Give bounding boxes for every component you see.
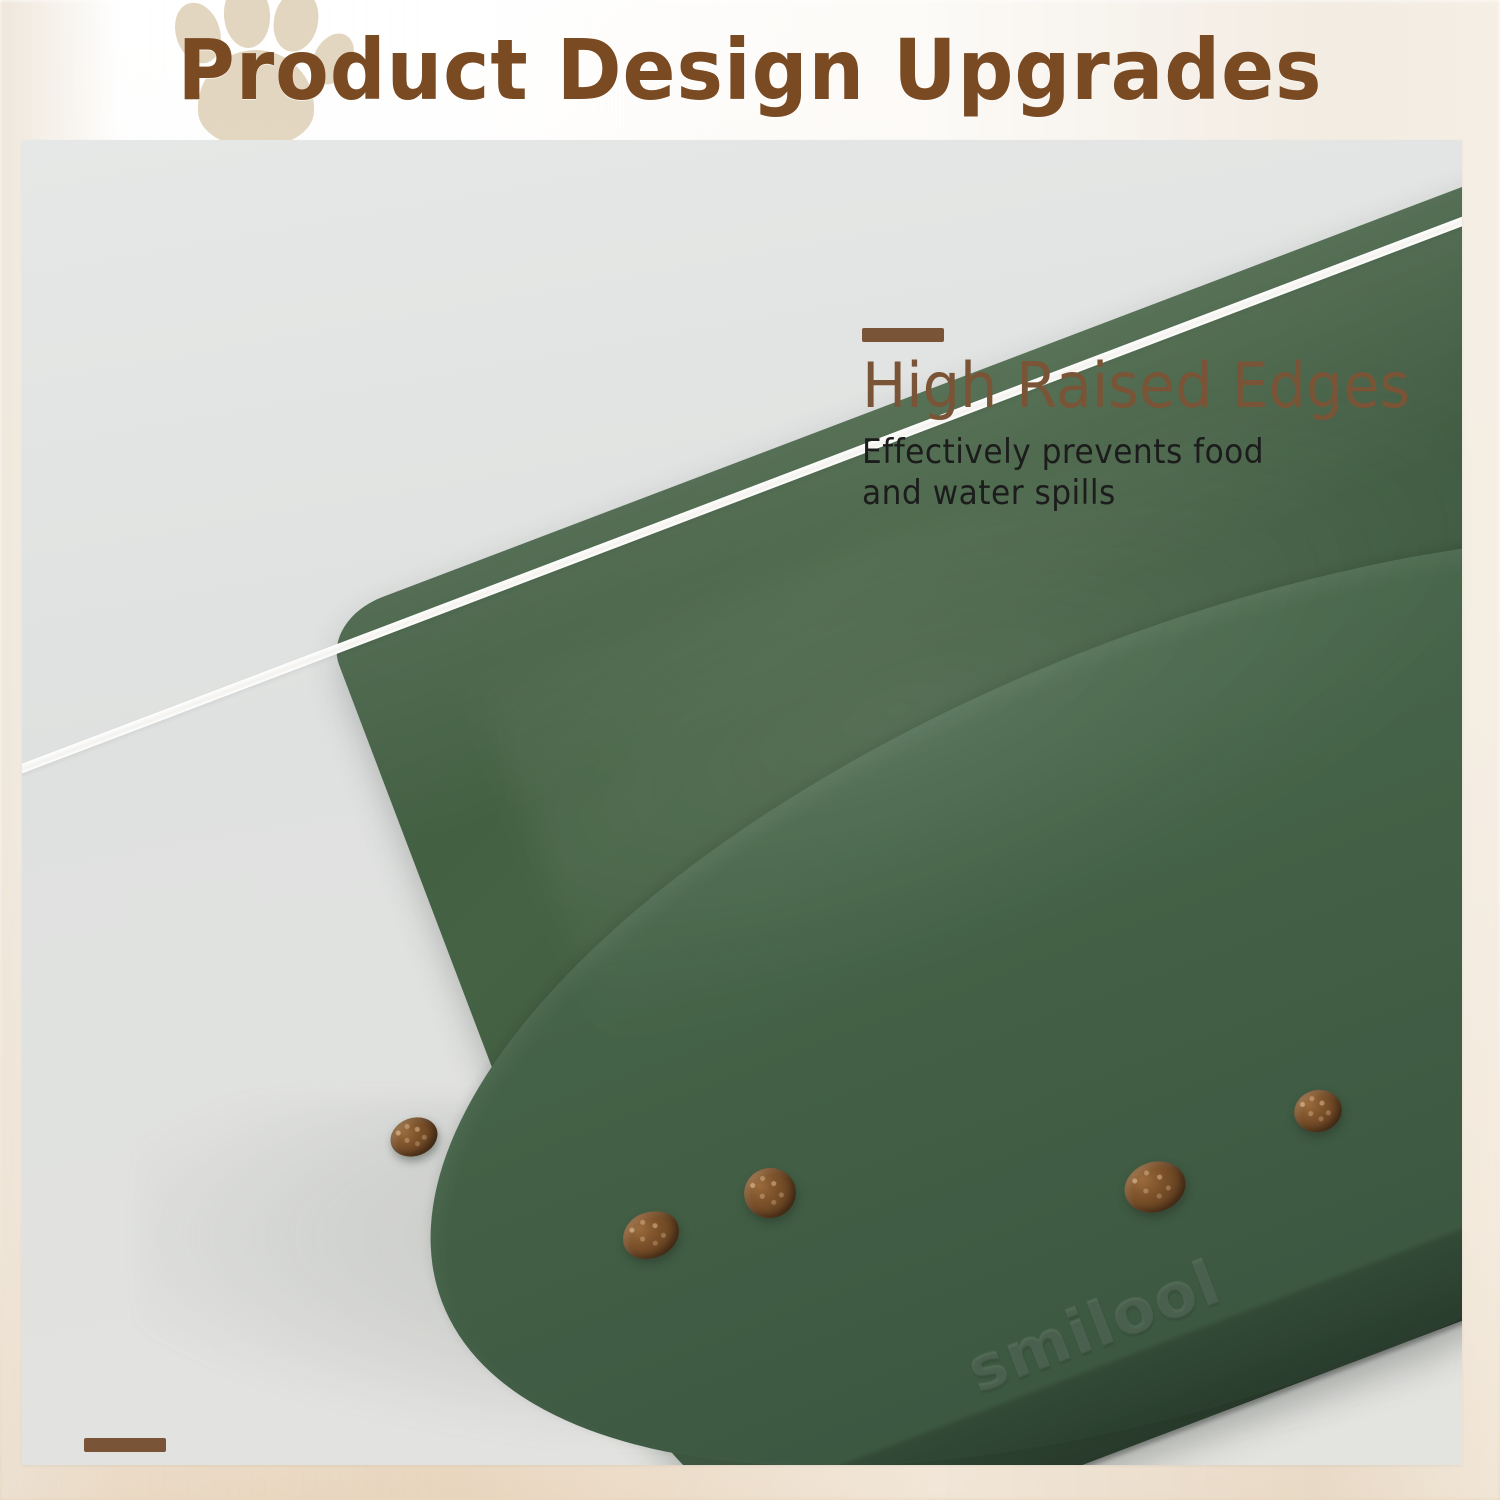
- feature-subtitle-line: and water spills: [862, 473, 1393, 513]
- feature-accent-dash: [84, 1438, 166, 1452]
- product-photo-panel: 0.8 inch smilool: [22, 140, 1462, 1465]
- feature-title: Keeping the floor clean: [84, 1464, 911, 1465]
- product-infographic: Product Design Upgrades: [0, 0, 1500, 1500]
- page-title: Product Design Upgrades: [53, 0, 1448, 140]
- feature-title: High Raised Edges: [862, 354, 1410, 418]
- feature-accent-dash: [862, 328, 944, 342]
- feature-high-raised-edges: High Raised Edges Effectively prevents f…: [862, 328, 1439, 513]
- feature-subtitle-line: Effectively prevents food: [862, 432, 1393, 472]
- feature-subtitle: Effectively prevents food and water spil…: [862, 432, 1393, 512]
- feature-keeping-floor-clean: Keeping the floor clean Minimizes time s…: [84, 1438, 954, 1465]
- header-banner: Product Design Upgrades: [0, 0, 1500, 140]
